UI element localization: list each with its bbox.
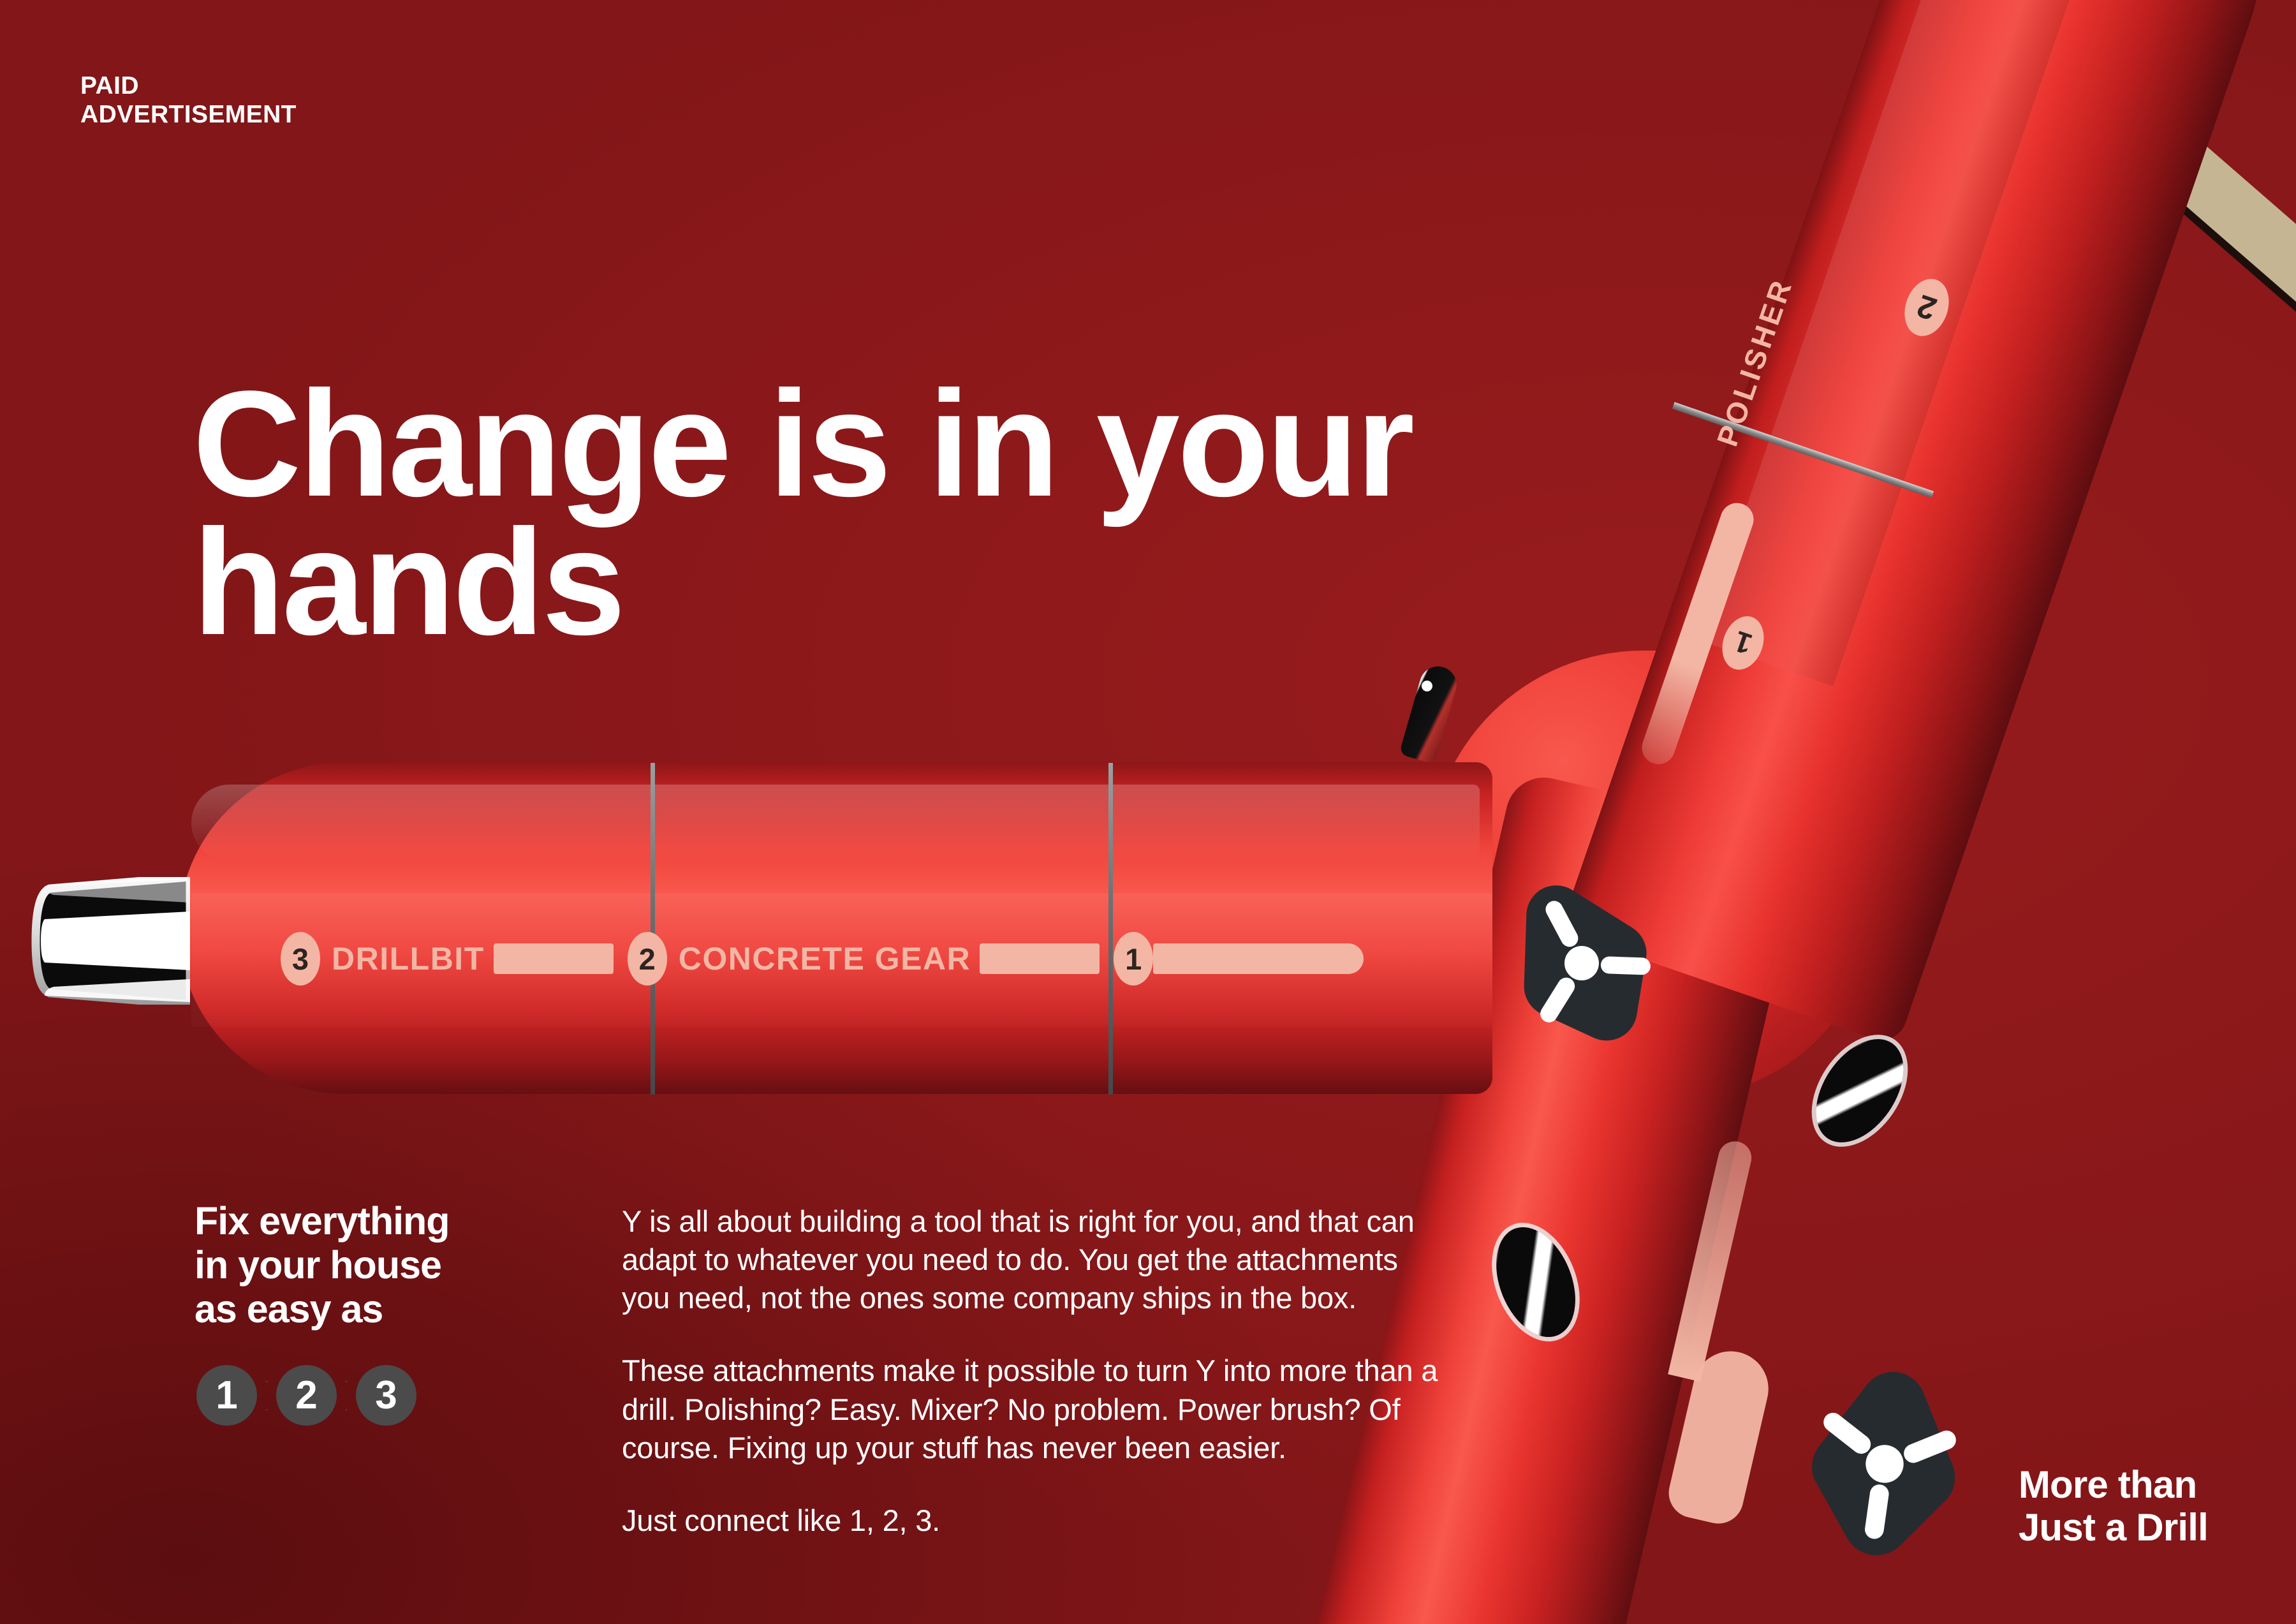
body-copy: Y is all about building a tool that is r…	[622, 1202, 1445, 1540]
page-title: Change is in your hands	[193, 375, 1723, 652]
step-connector-1	[256, 1381, 277, 1410]
body-paragraph-3: Just connect like 1, 2, 3.	[622, 1502, 1445, 1540]
paid-advertisement-kicker: PAID ADVERTISEMENT	[80, 71, 297, 129]
barrel-step-badge-2: 2	[628, 932, 667, 985]
drill-chuck-icon	[31, 877, 190, 1005]
body-paragraph-1: Y is all about building a tool that is r…	[622, 1202, 1445, 1317]
subheading-line-1: Fix everything	[195, 1199, 552, 1243]
drill-barrel-gloss	[191, 785, 1480, 861]
headline-line-1: Change is in your	[193, 375, 1723, 513]
barrel-connector-bar-3	[1153, 943, 1364, 974]
barrel-step-labels: 3 DRILLBIT 2 CONCRETE GEAR 1	[281, 928, 1364, 989]
barrel-connector-bar-1	[494, 943, 614, 974]
tri-blade-hub-icon-upper	[1486, 867, 1677, 1059]
tri-blade-hub-icon-lower	[1779, 1359, 1990, 1569]
barrel-step-label-concrete-gear: CONCRETE GEAR	[679, 940, 971, 977]
subheading-line-2: in your house	[195, 1243, 552, 1287]
advertisement-canvas: 2 POLISHER 1	[0, 0, 2296, 1624]
step-badge-1: 1	[196, 1365, 257, 1426]
barrel-connector-bar-2	[980, 943, 1100, 974]
subheading-line-3: as easy as	[195, 1287, 552, 1331]
chrome-attachment-head-right	[1798, 1023, 1922, 1158]
step-badge-row: 1 2 3	[196, 1365, 416, 1426]
trigger-lever-highlight	[1422, 681, 1432, 691]
tagline-line-2: Just a Drill	[2019, 1506, 2208, 1549]
trigger-lever[interactable]	[1399, 662, 1461, 764]
subheading: Fix everything in your house as easy as	[195, 1199, 552, 1331]
body-paragraph-2: These attachments make it possible to tu…	[622, 1352, 1445, 1466]
headline-line-2: hands	[193, 513, 1723, 652]
step-badge-3: 3	[356, 1365, 416, 1426]
step-connector-2	[335, 1381, 357, 1410]
tagline: More than Just a Drill	[2019, 1463, 2208, 1549]
barrel-step-badge-3: 3	[281, 932, 320, 985]
barrel-step-badge-1: 1	[1114, 932, 1153, 985]
tagline-line-1: More than	[2019, 1463, 2208, 1506]
step-badge-2: 2	[276, 1365, 337, 1426]
barrel-step-label-drillbit: DRILLBIT	[332, 940, 485, 977]
